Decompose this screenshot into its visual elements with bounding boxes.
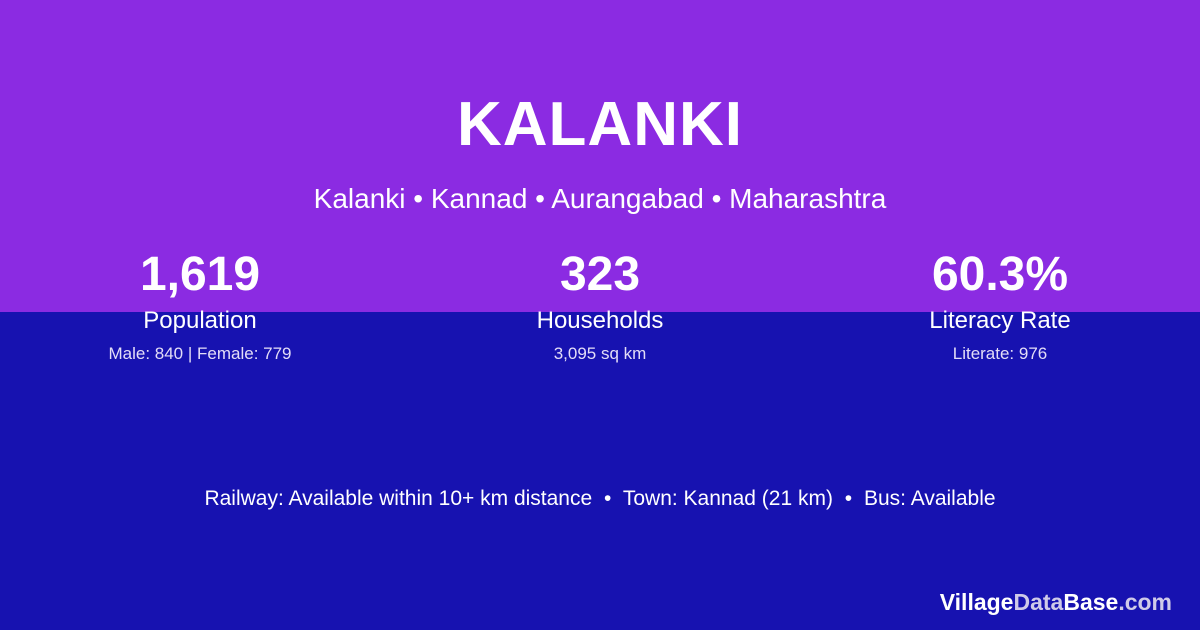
- stat-sublabel: 3,095 sq km: [400, 343, 800, 365]
- transport-separator: •: [839, 487, 858, 510]
- stat-households: 323 Households 3,095 sq km: [400, 246, 800, 365]
- site-brand: VillageDataBase.com: [940, 588, 1172, 616]
- stats-row: 1,619 Population Male: 840 | Female: 779…: [0, 246, 1200, 365]
- stat-label: Households: [400, 306, 800, 336]
- stat-value: 323: [400, 246, 800, 304]
- transport-separator: •: [598, 487, 617, 510]
- transport-town: Town: Kannad (21 km): [623, 487, 833, 510]
- breadcrumb: Kalanki • Kannad • Aurangabad • Maharash…: [0, 182, 1200, 216]
- brand-part-data: Data: [1013, 589, 1063, 615]
- stat-label: Literacy Rate: [800, 306, 1200, 336]
- stat-sublabel: Male: 840 | Female: 779: [0, 343, 400, 365]
- transport-bus: Bus: Available: [864, 487, 996, 510]
- brand-part-tld: .com: [1118, 589, 1172, 615]
- stat-value: 1,619: [0, 246, 400, 304]
- stat-literacy-rate: 60.3% Literacy Rate Literate: 976: [800, 246, 1200, 365]
- transport-info: Railway: Available within 10+ km distanc…: [0, 484, 1200, 514]
- page-title: KALANKI: [0, 88, 1200, 162]
- transport-railway: Railway: Available within 10+ km distanc…: [204, 487, 592, 510]
- brand-part-base: Base: [1063, 589, 1118, 615]
- stat-label: Population: [0, 306, 400, 336]
- village-info-card: KALANKI Kalanki • Kannad • Aurangabad • …: [0, 0, 1200, 630]
- stat-value: 60.3%: [800, 246, 1200, 304]
- stat-population: 1,619 Population Male: 840 | Female: 779: [0, 246, 400, 365]
- stat-sublabel: Literate: 976: [800, 343, 1200, 365]
- brand-part-village: Village: [940, 589, 1014, 615]
